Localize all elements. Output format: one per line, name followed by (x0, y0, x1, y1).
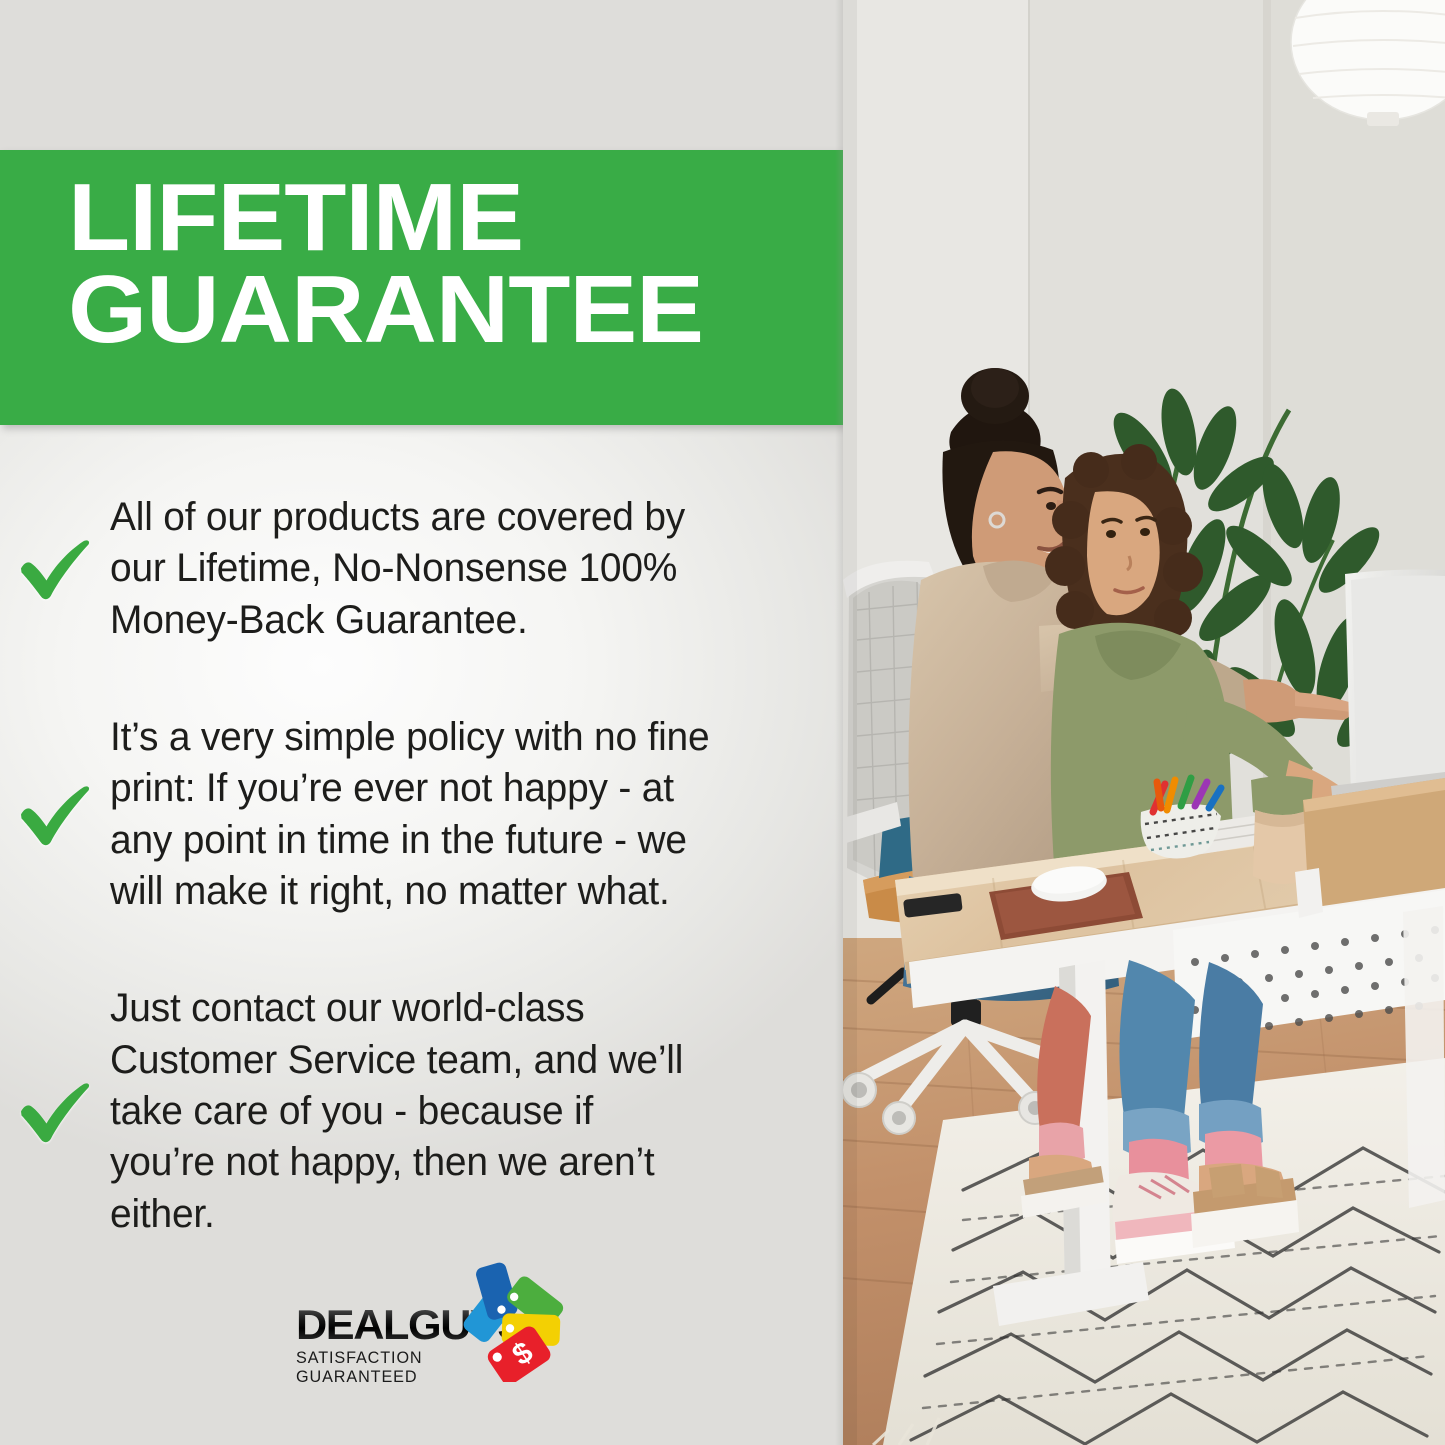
check-glyph (17, 537, 93, 601)
headline: LIFETIME GUARANTEE (68, 172, 927, 356)
list-item-text: All of our products are covered by our L… (110, 492, 685, 646)
guarantee-graphic: LIFETIME GUARANTEE All of our products a… (0, 0, 1445, 1445)
brand-logo: DEALGUYS SATISFACTION GUARANTEED (296, 1268, 561, 1380)
green-check-icon (0, 1080, 110, 1144)
green-check-icon (0, 537, 110, 601)
check-glyph (17, 1080, 93, 1144)
photo-illustration (843, 0, 1445, 1445)
lifestyle-photo (843, 0, 1445, 1445)
left-content-panel: LIFETIME GUARANTEE All of our products a… (0, 0, 845, 1445)
list-item: Just contact our world-class Customer Se… (0, 983, 845, 1240)
green-check-icon (0, 783, 110, 847)
benefits-list: All of our products are covered by our L… (0, 492, 845, 1240)
check-glyph (17, 783, 93, 847)
list-item: All of our products are covered by our L… (0, 492, 845, 646)
lifetime-guarantee-banner: LIFETIME GUARANTEE (0, 150, 888, 425)
price-tags-fan-icon: $ (448, 1256, 572, 1382)
list-item: It’s a very simple policy with no fine p… (0, 712, 845, 917)
list-item-text: Just contact our world-class Customer Se… (110, 983, 683, 1240)
banner-text-wrap: LIFETIME GUARANTEE (68, 172, 878, 356)
list-item-text: It’s a very simple policy with no fine p… (110, 712, 709, 917)
